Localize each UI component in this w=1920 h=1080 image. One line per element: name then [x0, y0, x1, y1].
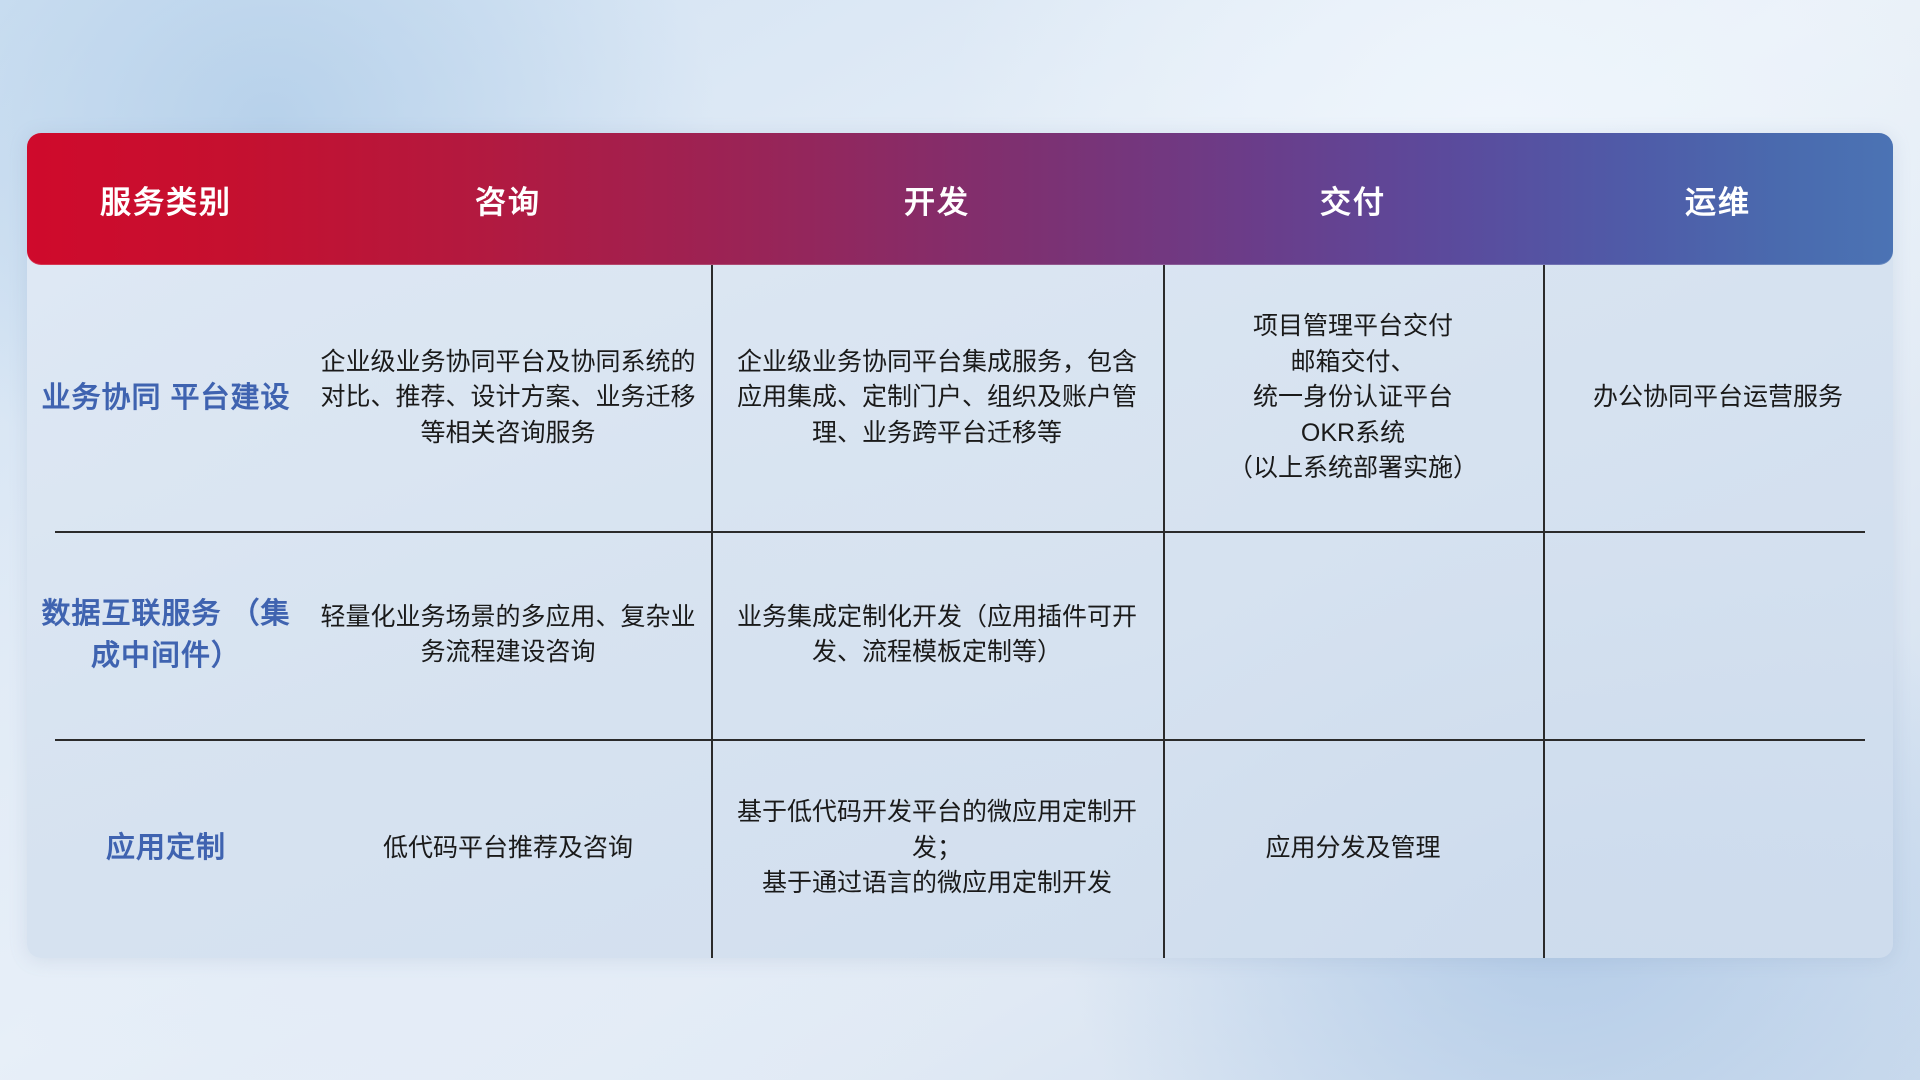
cell-delivery: 项目管理平台交付 邮箱交付、 统一身份认证平台 OKR系统 （以上系统部署实施）: [1163, 265, 1543, 531]
row-label-cell: 业务协同 平台建设: [27, 265, 305, 531]
cell-development: 基于低代码开发平台的微应用定制开发； 基于通过语言的微应用定制开发: [711, 739, 1163, 958]
column-header-development: 开发: [711, 177, 1163, 222]
cell-text: 企业级业务协同平台集成服务，包含应用集成、定制门户、组织及账户管理、业务跨平台迁…: [711, 345, 1163, 452]
cell-text: 企业级业务协同平台及协同系统的对比、推荐、设计方案、业务迁移等相关咨询服务: [305, 345, 711, 452]
table-body: 业务协同 平台建设 企业级业务协同平台及协同系统的对比、推荐、设计方案、业务迁移…: [27, 265, 1893, 958]
cell-text: 业务集成定制化开发（应用插件可开发、流程模板定制等）: [711, 600, 1163, 671]
cell-text: 项目管理平台交付 邮箱交付、 统一身份认证平台 OKR系统 （以上系统部署实施）: [1214, 309, 1492, 487]
cell-text: 应用分发及管理: [1251, 831, 1454, 867]
row-label-data-interconnect: 数据互联服务 （集成中间件）: [27, 593, 305, 677]
cell-text: 低代码平台推荐及咨询: [369, 831, 647, 867]
cell-operations: [1543, 739, 1893, 958]
cell-text: 办公协同平台运营服务: [1579, 380, 1857, 416]
cell-development: 企业级业务协同平台集成服务，包含应用集成、定制门户、组织及账户管理、业务跨平台迁…: [711, 265, 1163, 531]
column-divider-2: [1163, 265, 1165, 958]
table-row: 数据互联服务 （集成中间件） 轻量化业务场景的多应用、复杂业务流程建设咨询 业务…: [27, 531, 1893, 739]
cell-operations: [1543, 531, 1893, 739]
cell-operations: 办公协同平台运营服务: [1543, 265, 1893, 531]
cell-text: 轻量化业务场景的多应用、复杂业务流程建设咨询: [305, 600, 711, 671]
table-row: 应用定制 低代码平台推荐及咨询 基于低代码开发平台的微应用定制开发； 基于通过语…: [27, 739, 1893, 958]
row-divider-1: [55, 531, 1865, 533]
cell-consulting: 企业级业务协同平台及协同系统的对比、推荐、设计方案、业务迁移等相关咨询服务: [305, 265, 711, 531]
cell-development: 业务集成定制化开发（应用插件可开发、流程模板定制等）: [711, 531, 1163, 739]
cell-consulting: 低代码平台推荐及咨询: [305, 739, 711, 958]
row-label-app-customization: 应用定制: [106, 827, 226, 869]
column-divider-3: [1543, 265, 1545, 958]
column-header-operations: 运维: [1543, 177, 1893, 222]
column-divider-1: [711, 265, 713, 958]
row-label-cell: 数据互联服务 （集成中间件）: [27, 531, 305, 739]
cell-consulting: 轻量化业务场景的多应用、复杂业务流程建设咨询: [305, 531, 711, 739]
cell-delivery: 应用分发及管理: [1163, 739, 1543, 958]
row-label-cell: 应用定制: [27, 739, 305, 958]
row-label-business-collaboration: 业务协同 平台建设: [41, 377, 290, 419]
column-header-consulting: 咨询: [305, 177, 711, 222]
service-matrix-table: 服务类别 咨询 开发 交付 运维 业务协同 平台建设 企业级业务协同平台及协同系…: [27, 133, 1893, 958]
cell-delivery: [1163, 531, 1543, 739]
table-row: 业务协同 平台建设 企业级业务协同平台及协同系统的对比、推荐、设计方案、业务迁移…: [27, 265, 1893, 531]
table-header-row: 服务类别 咨询 开发 交付 运维: [27, 133, 1893, 265]
cell-text: 基于低代码开发平台的微应用定制开发； 基于通过语言的微应用定制开发: [711, 795, 1163, 902]
column-header-delivery: 交付: [1163, 177, 1543, 222]
column-header-category: 服务类别: [27, 177, 305, 222]
row-divider-2: [55, 739, 1865, 741]
